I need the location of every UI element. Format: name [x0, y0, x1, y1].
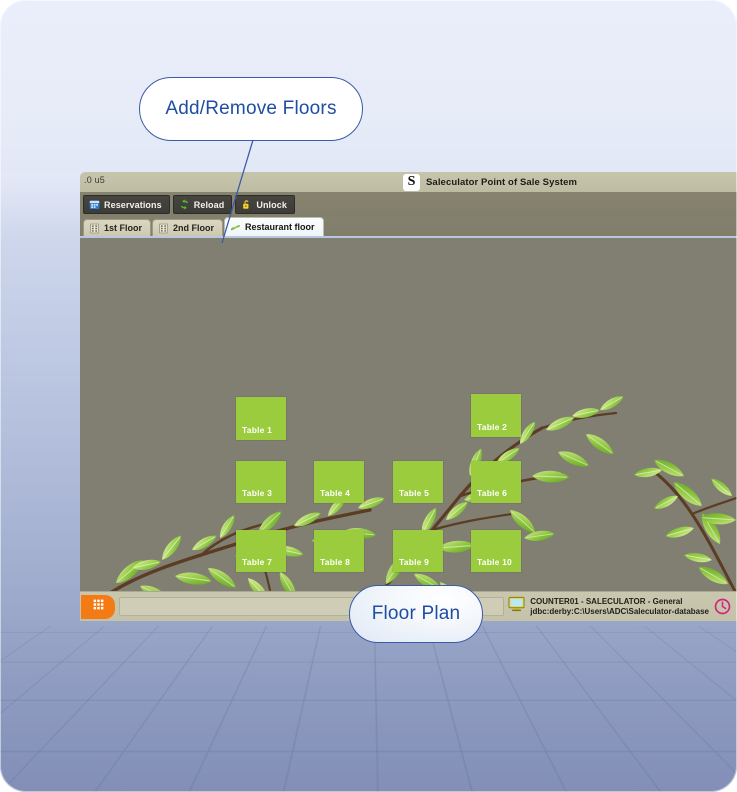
- table-label: Table 5: [399, 488, 429, 498]
- table-box[interactable]: Table 10: [471, 530, 521, 572]
- tab-restaurant-floor-label: Restaurant floor: [245, 222, 315, 232]
- jdbc-line: jdbc:derby:C:\Users\ADC\Saleculator-data…: [530, 607, 709, 616]
- counter-line: COUNTER01 - SALECULATOR - General: [530, 597, 709, 606]
- reservations-button-label: Reservations: [104, 200, 162, 210]
- connection-text: COUNTER01 - SALECULATOR - General jdbc:d…: [530, 597, 709, 616]
- table-label: Table 1: [242, 425, 272, 435]
- keypad-grid-icon: [92, 598, 105, 616]
- building-grid-icon: [158, 223, 169, 234]
- callout-add-remove-floors: Add/Remove Floors: [139, 77, 363, 141]
- table-box[interactable]: Table 5: [393, 461, 443, 503]
- table-box[interactable]: Table 4: [314, 461, 364, 503]
- title-center-group: S Saleculator Point of Sale System: [403, 172, 577, 192]
- table-box[interactable]: Table 6: [471, 461, 521, 503]
- floor-plan-canvas[interactable]: Table 1Table 2Table 3Table 4Table 5Table…: [80, 236, 737, 591]
- tab-1st-floor-label: 1st Floor: [104, 223, 142, 233]
- app-logo-icon: S: [403, 174, 420, 191]
- app-title: Saleculator Point of Sale System: [426, 177, 577, 188]
- table-label: Table 8: [320, 557, 350, 567]
- toolbar: Reservations Reload: [80, 192, 737, 217]
- table-box[interactable]: Table 8: [314, 530, 364, 572]
- table-label: Table 3: [242, 488, 272, 498]
- background-floor-tint: [0, 626, 737, 792]
- table-box[interactable]: Table 9: [393, 530, 443, 572]
- keypad-button[interactable]: [81, 595, 115, 619]
- calendar-icon: [89, 199, 100, 210]
- reload-button[interactable]: Reload: [173, 195, 233, 214]
- table-label: Table 4: [320, 488, 350, 498]
- table-label: Table 6: [477, 488, 507, 498]
- unlock-button[interactable]: Unlock: [235, 195, 295, 214]
- table-label: Table 10: [477, 557, 512, 567]
- table-box[interactable]: Table 2: [471, 394, 521, 437]
- table-label: Table 9: [399, 557, 429, 567]
- reload-button-label: Reload: [194, 200, 225, 210]
- reservations-button[interactable]: Reservations: [83, 195, 170, 214]
- version-text: .0 u5: [84, 175, 105, 185]
- application-window: .0 u5 S Saleculator Point of Sale System: [80, 172, 737, 625]
- callout-add-remove-floors-label: Add/Remove Floors: [165, 98, 336, 120]
- tab-2nd-floor-label: 2nd Floor: [173, 223, 214, 233]
- reload-icon: [179, 199, 190, 210]
- tab-2nd-floor[interactable]: 2nd Floor: [152, 219, 223, 236]
- table-box[interactable]: Table 7: [236, 530, 286, 572]
- table-box[interactable]: Table 1: [236, 397, 286, 440]
- screenshot-root: .0 u5 S Saleculator Point of Sale System: [0, 0, 737, 792]
- building-grid-icon: [89, 223, 100, 234]
- leaf-icon: [230, 222, 241, 233]
- table-label: Table 2: [477, 422, 507, 432]
- tab-1st-floor[interactable]: 1st Floor: [83, 219, 151, 236]
- callout-floor-plan: Floor Plan: [349, 585, 483, 643]
- lock-open-icon: [241, 199, 252, 210]
- table-box[interactable]: Table 3: [236, 461, 286, 503]
- title-bar: .0 u5 S Saleculator Point of Sale System: [80, 172, 737, 192]
- callout-floor-plan-label: Floor Plan: [372, 603, 461, 625]
- monitor-icon: [508, 596, 525, 617]
- background-sky: [0, 0, 737, 172]
- tab-restaurant-floor[interactable]: Restaurant floor: [224, 217, 324, 236]
- table-label: Table 7: [242, 557, 272, 567]
- unlock-button-label: Unlock: [256, 200, 287, 210]
- clock-icon[interactable]: [714, 598, 733, 615]
- connection-info: COUNTER01 - SALECULATOR - General jdbc:d…: [508, 596, 737, 617]
- background-perspective-grid: [0, 626, 737, 792]
- floor-tab-strip: 1st Floor 2nd Floor: [80, 217, 737, 236]
